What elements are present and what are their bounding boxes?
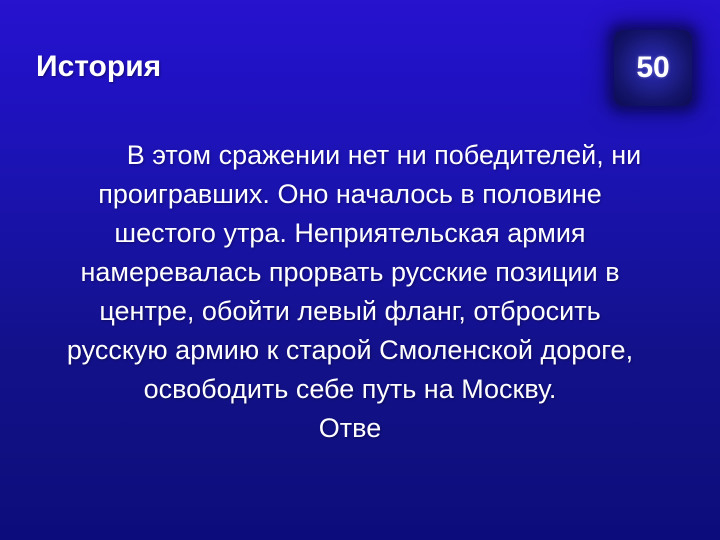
quiz-slide: История 50 В этом сражении нет ни победи… bbox=[0, 0, 720, 540]
score-badge-value: 50 bbox=[636, 53, 669, 83]
answer-label[interactable]: Отве bbox=[48, 409, 652, 448]
score-badge[interactable]: 50 bbox=[614, 30, 692, 106]
question-text: В этом сражении нет ни победителей, ни п… bbox=[48, 136, 652, 448]
question-text-content: В этом сражении нет ни победителей, ни п… bbox=[67, 140, 641, 404]
page-title: История bbox=[36, 50, 161, 84]
